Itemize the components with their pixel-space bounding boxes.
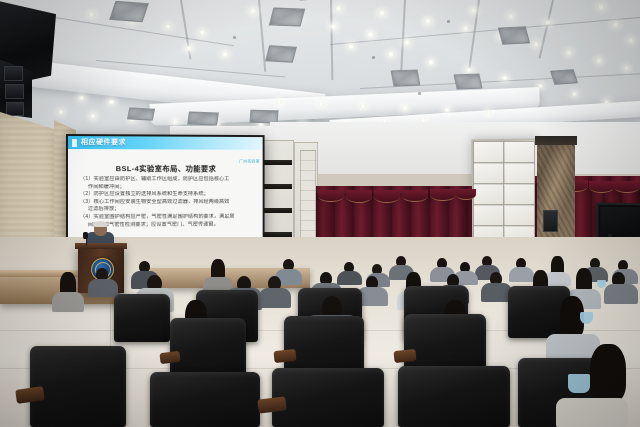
slide-body-line: 作间和缓冲间； bbox=[80, 184, 255, 192]
podium-top bbox=[75, 243, 127, 249]
av-speaker-grille bbox=[4, 66, 23, 81]
microphone-icon bbox=[83, 232, 88, 239]
hvac-diffuser bbox=[109, 1, 149, 22]
hvac-diffuser bbox=[265, 45, 297, 62]
slide-body-line: （4）实验室围护结构应严密，气密性满足围护结构的要求，满足房 bbox=[80, 214, 255, 222]
upper-wall bbox=[270, 122, 640, 174]
slide-body: （1）实验室应由防护区、辅助工作区组成，防护区应包括核心工 作间和缓冲间； （2… bbox=[80, 176, 255, 229]
hvac-diffuser bbox=[127, 107, 155, 120]
hvac-diffuser bbox=[391, 70, 421, 87]
hvac-diffuser bbox=[498, 26, 530, 44]
slide-body-line: （3）核心工作间应安装生物安全型高效过滤器，排风经两级高效 bbox=[80, 199, 255, 207]
attendee-head bbox=[590, 344, 626, 402]
slide-body-line: （1）实验室应由防护区、辅助工作区组成，防护区应包括核心工 bbox=[80, 176, 255, 184]
slide-title: BSL-4实验室布局、功能要求 bbox=[68, 163, 263, 174]
display-screen bbox=[600, 207, 640, 236]
wall-mounted-display[interactable] bbox=[596, 203, 640, 240]
slide-body-line: （2）防护区应设置独立的送排风系统和生命支持系统； bbox=[80, 191, 255, 199]
face-mask bbox=[568, 374, 590, 393]
presenter-hair bbox=[94, 221, 107, 227]
column-capital bbox=[535, 136, 577, 145]
hvac-diffuser bbox=[269, 7, 306, 26]
hvac-diffuser bbox=[187, 111, 219, 125]
wall-speaker bbox=[543, 210, 558, 232]
hvac-diffuser bbox=[550, 69, 578, 85]
slide-banner-marker-icon bbox=[72, 139, 77, 147]
av-speaker-grille bbox=[6, 102, 24, 116]
lecture-hall-photo: 相应硬件要求 广州实验室 BSL-4实验室布局、功能要求 （1）实验室应由防护区… bbox=[0, 0, 640, 427]
hvac-diffuser bbox=[454, 74, 483, 90]
slide-banner-title: 相应硬件要求 bbox=[81, 138, 126, 147]
av-speaker-grille bbox=[5, 84, 24, 99]
